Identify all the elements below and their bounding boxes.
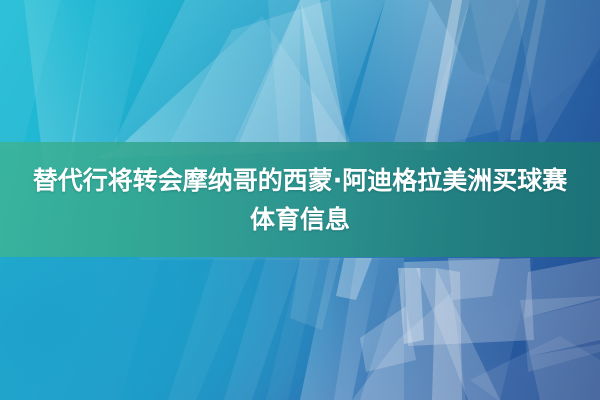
headline-text-block: 替代行将转会摩纳哥的西蒙·阿迪格拉美洲买球赛 体育信息 bbox=[0, 142, 600, 257]
headline-line-2: 体育信息 bbox=[250, 200, 350, 239]
banner-image: 替代行将转会摩纳哥的西蒙·阿迪格拉美洲买球赛 体育信息 bbox=[0, 0, 600, 400]
headline-line-1: 替代行将转会摩纳哥的西蒙·阿迪格拉美洲买球赛 bbox=[33, 161, 568, 200]
